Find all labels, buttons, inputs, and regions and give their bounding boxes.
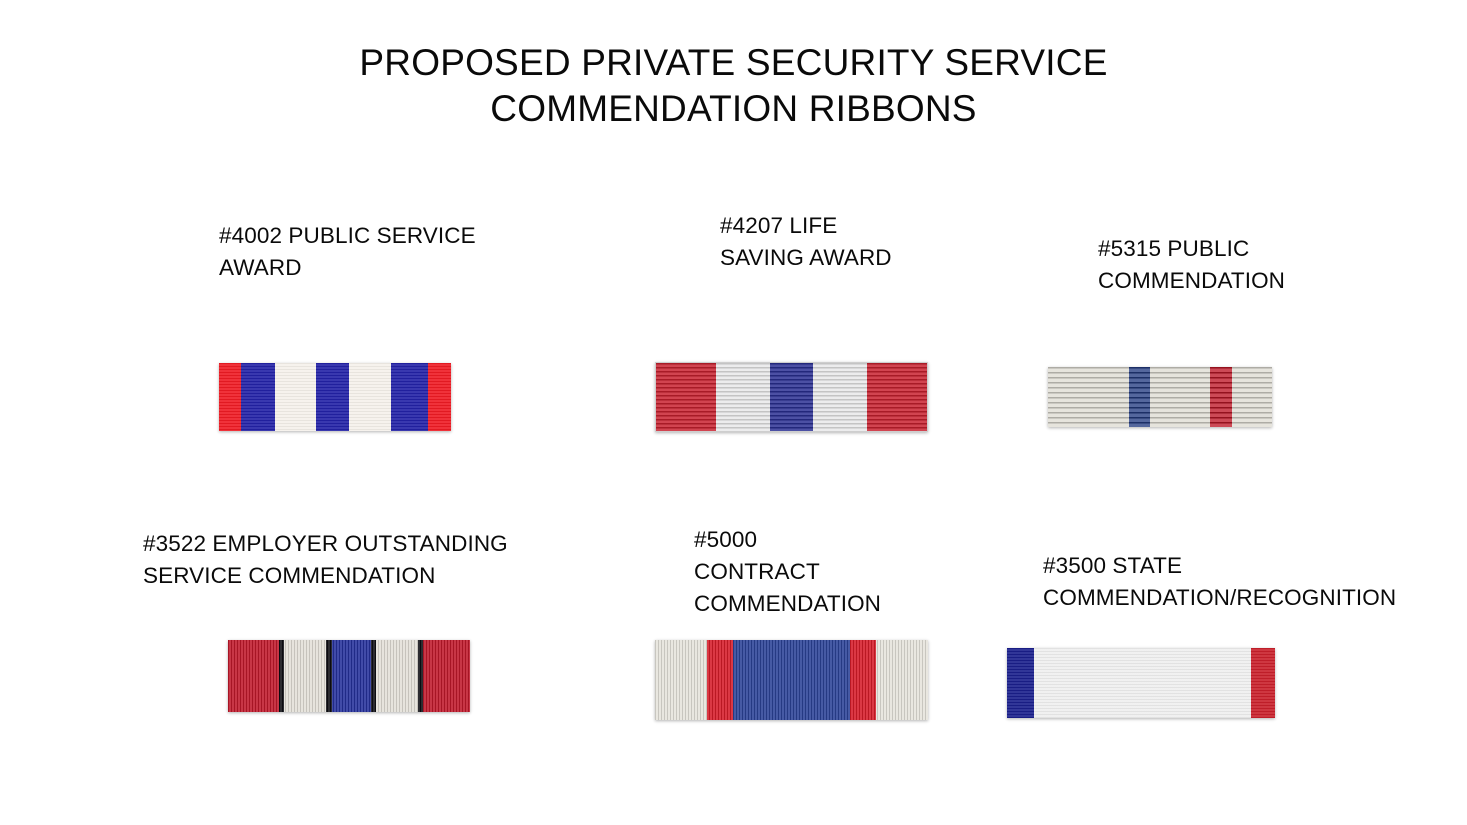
award-label-5000: #5000 CONTRACT COMMENDATION [694,524,974,620]
ribbon-stripe [332,640,371,712]
ribbon-4002-public-service-award [219,363,451,431]
ribbon-stripe [655,640,707,720]
award-item-4207: #4207 LIFE SAVING AWARD [720,210,1010,435]
award-item-5000: #5000 CONTRACT COMMENDATION [694,524,974,734]
ribbon-stripe [284,640,326,712]
ribbon-stripe [241,363,275,431]
ribbon-stripe [770,363,813,431]
ribbon-stripe [867,363,927,431]
ribbon-stripe [1048,367,1129,427]
ribbon-stripe [656,363,716,431]
ribbon-stripe [813,363,867,431]
ribbon-stripe [428,363,451,431]
ribbon-stripe [1210,367,1231,427]
ribbon-stripe [376,640,418,712]
award-label-3500: #3500 STATE COMMENDATION/RECOGNITION [1043,550,1443,614]
award-item-5315: #5315 PUBLIC COMMENDATION [1098,233,1398,433]
ribbon-stripe [219,363,241,431]
slide-canvas: PROPOSED PRIVATE SECURITY SERVICE COMMEN… [0,0,1467,825]
ribbon-3522-employer-outstanding-service-commendation [228,640,470,712]
ribbon-stripe [733,640,850,720]
ribbon-stripe [1129,367,1150,427]
ribbon-3500-state-commendation-recognition [1007,648,1275,718]
ribbon-stripe [1150,367,1210,427]
ribbon-stripe [275,363,317,431]
award-label-4207: #4207 LIFE SAVING AWARD [720,210,1010,274]
page-title: PROPOSED PRIVATE SECURITY SERVICE COMMEN… [0,40,1467,132]
ribbon-5000-contract-commendation [655,640,928,720]
ribbon-stripe [1232,367,1272,427]
ribbon-stripe [391,363,428,431]
ribbon-stripe [349,363,391,431]
award-label-3522: #3522 EMPLOYER OUTSTANDING SERVICE COMME… [143,528,543,592]
ribbon-stripe [316,363,348,431]
ribbon-stripe [876,640,928,720]
ribbon-stripe [1251,648,1275,718]
award-label-5315: #5315 PUBLIC COMMENDATION [1098,233,1398,297]
award-label-4002: #4002 PUBLIC SERVICE AWARD [219,220,519,284]
ribbon-stripe [1034,648,1251,718]
ribbon-5315-public-commendation [1048,367,1272,427]
award-item-4002: #4002 PUBLIC SERVICE AWARD [219,220,519,435]
ribbon-stripe [1007,648,1034,718]
ribbon-stripe [707,640,733,720]
ribbon-stripe [716,363,770,431]
award-item-3500: #3500 STATE COMMENDATION/RECOGNITION [1043,550,1443,740]
ribbon-4207-life-saving-award [655,362,928,432]
ribbon-stripe [423,640,469,712]
ribbon-stripe [228,640,279,712]
award-item-3522: #3522 EMPLOYER OUTSTANDING SERVICE COMME… [143,528,543,728]
ribbon-stripe [850,640,876,720]
